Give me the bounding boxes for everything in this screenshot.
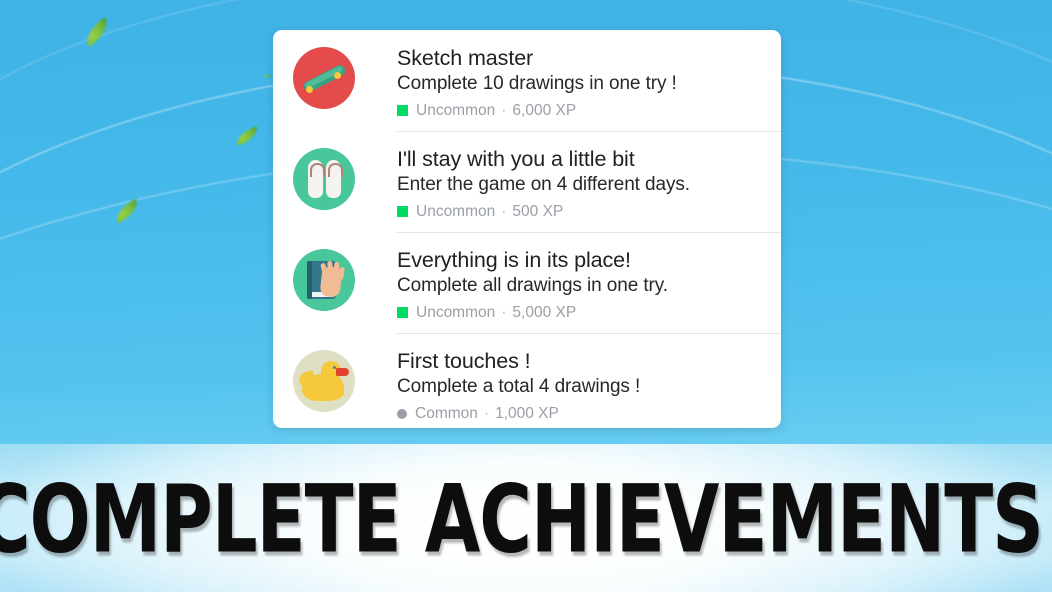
rarity-swatch-icon [397, 206, 408, 217]
xp-label: 6,000 XP [512, 100, 576, 121]
achievement-title: Sketch master [397, 45, 677, 71]
meta-separator: · [484, 403, 489, 424]
achievement-meta: Uncommon · 5,000 XP [397, 302, 668, 323]
promo-headline: COMPLETE ACHIEVEMENTS! [0, 473, 1052, 566]
flip-flops-icon [293, 148, 355, 210]
meta-separator: · [501, 201, 506, 222]
achievement-title: I'll stay with you a little bit [397, 146, 690, 172]
achievement-list-item[interactable]: Sketch master Complete 10 drawings in on… [273, 30, 781, 131]
achievement-description: Complete a total 4 drawings ! [397, 374, 640, 399]
meta-separator: · [501, 302, 506, 323]
achievement-description: Enter the game on 4 different days. [397, 172, 690, 197]
achievement-text-block: Sketch master Complete 10 drawings in on… [397, 44, 677, 121]
achievement-text-block: Everything is in its place! Complete all… [397, 246, 668, 323]
rarity-label: Uncommon [416, 201, 495, 222]
xp-label: 5,000 XP [512, 302, 576, 323]
skateboard-icon [293, 47, 355, 109]
rarity-label: Common [415, 403, 478, 424]
achievement-list-item[interactable]: I'll stay with you a little bit Enter th… [273, 131, 781, 232]
xp-label: 1,000 XP [495, 403, 559, 424]
achievement-list-item[interactable]: Everything is in its place! Complete all… [273, 232, 781, 333]
book-hand-icon [293, 249, 355, 311]
rarity-label: Uncommon [416, 302, 495, 323]
achievement-title: Everything is in its place! [397, 247, 668, 273]
meta-separator: · [501, 100, 506, 121]
achievement-list-item[interactable]: First touches ! Complete a total 4 drawi… [273, 333, 781, 428]
rarity-swatch-icon [397, 409, 407, 419]
achievement-title: First touches ! [397, 348, 640, 374]
achievement-text-block: I'll stay with you a little bit Enter th… [397, 145, 690, 222]
rarity-label: Uncommon [416, 100, 495, 121]
xp-label: 500 XP [512, 201, 563, 222]
rarity-swatch-icon [397, 307, 408, 318]
achievement-meta: Common · 1,000 XP [397, 403, 640, 424]
achievement-meta: Uncommon · 6,000 XP [397, 100, 677, 121]
achievement-meta: Uncommon · 500 XP [397, 201, 690, 222]
promo-banner: COMPLETE ACHIEVEMENTS! [0, 444, 1052, 592]
rarity-swatch-icon [397, 105, 408, 116]
achievements-card[interactable]: Sketch master Complete 10 drawings in on… [273, 30, 781, 428]
achievement-description: Complete 10 drawings in one try ! [397, 71, 677, 96]
achievement-text-block: First touches ! Complete a total 4 drawi… [397, 347, 640, 424]
achievement-description: Complete all drawings in one try. [397, 273, 668, 298]
rubber-duck-icon [293, 350, 355, 412]
